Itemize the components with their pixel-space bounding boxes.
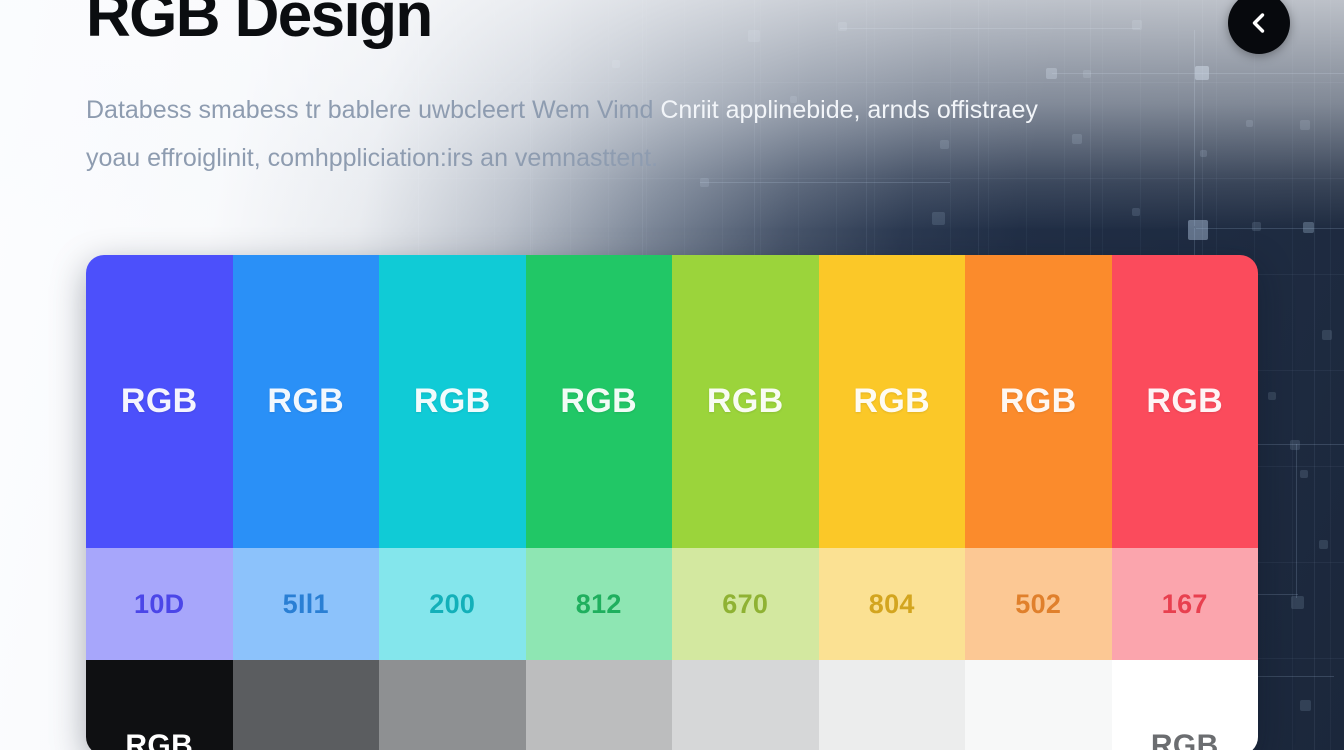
swatch-value-blue[interactable]: 5Il1 (233, 548, 380, 660)
swatch-green[interactable]: RGB (526, 255, 673, 548)
swatch-value-label: 5Il1 (283, 589, 329, 620)
swatch-label: RGB (1000, 382, 1077, 421)
swatch-blue[interactable]: RGB (233, 255, 380, 548)
swatch-label: RGB (267, 382, 344, 421)
swatch-label: RGB (121, 382, 198, 421)
chevron-left-icon (1246, 10, 1272, 36)
swatch-gray-amber[interactable] (819, 660, 966, 750)
color-palette-card: RGBRGBRGBRGBRGBRGBRGBRGB 10D5Il120081267… (86, 255, 1258, 750)
swatch-gray-label: RGB (125, 729, 193, 750)
swatch-red[interactable]: RGB (1112, 255, 1259, 548)
swatch-value-green[interactable]: 812 (526, 548, 673, 660)
swatch-gray-cyan[interactable] (379, 660, 526, 750)
swatch-label: RGB (560, 382, 637, 421)
swatch-gray-orange[interactable] (965, 660, 1112, 750)
swatch-label: RGB (707, 382, 784, 421)
swatch-value-label: 804 (869, 589, 915, 620)
swatch-value-label: 812 (576, 589, 622, 620)
swatch-gray-red[interactable]: RGB (1112, 660, 1259, 750)
palette-row-tint: 10D5Il1200812670804502167 (86, 548, 1258, 660)
swatch-gray-label: RGB (1151, 729, 1219, 750)
swatch-gray-green[interactable] (526, 660, 673, 750)
swatch-value-orange[interactable]: 502 (965, 548, 1112, 660)
swatch-orange[interactable]: RGB (965, 255, 1112, 548)
swatch-label: RGB (1146, 382, 1223, 421)
page-description: Databess smabess tr bablere uwbcleert We… (86, 86, 1266, 182)
swatch-label: RGB (414, 382, 491, 421)
swatch-lime[interactable]: RGB (672, 255, 819, 548)
swatch-value-label: 200 (429, 589, 475, 620)
swatch-value-cyan[interactable]: 200 (379, 548, 526, 660)
swatch-gray-blue[interactable] (233, 660, 380, 750)
page-title: RGB Design (86, 0, 432, 50)
swatch-value-lime[interactable]: 670 (672, 548, 819, 660)
description-line-1-part-a: Databess smabess tr bablere uwbcleert We… (86, 96, 660, 124)
swatch-gray-lime[interactable] (672, 660, 819, 750)
palette-row-primary: RGBRGBRGBRGBRGBRGBRGBRGB (86, 255, 1258, 548)
swatch-amber[interactable]: RGB (819, 255, 966, 548)
description-line-1-part-b: Cnriit applinebide, arnds offistraey (660, 96, 1038, 124)
swatch-cyan[interactable]: RGB (379, 255, 526, 548)
swatch-value-label: 502 (1015, 589, 1061, 620)
swatch-value-indigo[interactable]: 10D (86, 548, 233, 660)
swatch-value-amber[interactable]: 804 (819, 548, 966, 660)
swatch-value-red[interactable]: 167 (1112, 548, 1259, 660)
swatch-value-label: 10D (134, 589, 184, 620)
swatch-label: RGB (853, 382, 930, 421)
swatch-value-label: 167 (1162, 589, 1208, 620)
description-line-1: Databess smabess tr bablere uwbcleert We… (86, 86, 1266, 134)
description-line-2: yoau effroiglinit, comhppliciation:irs a… (86, 134, 1266, 182)
swatch-value-label: 670 (722, 589, 768, 620)
swatch-gray-indigo[interactable]: RGB (86, 660, 233, 750)
palette-row-grayscale: RGBRGB (86, 660, 1258, 750)
swatch-indigo[interactable]: RGB (86, 255, 233, 548)
